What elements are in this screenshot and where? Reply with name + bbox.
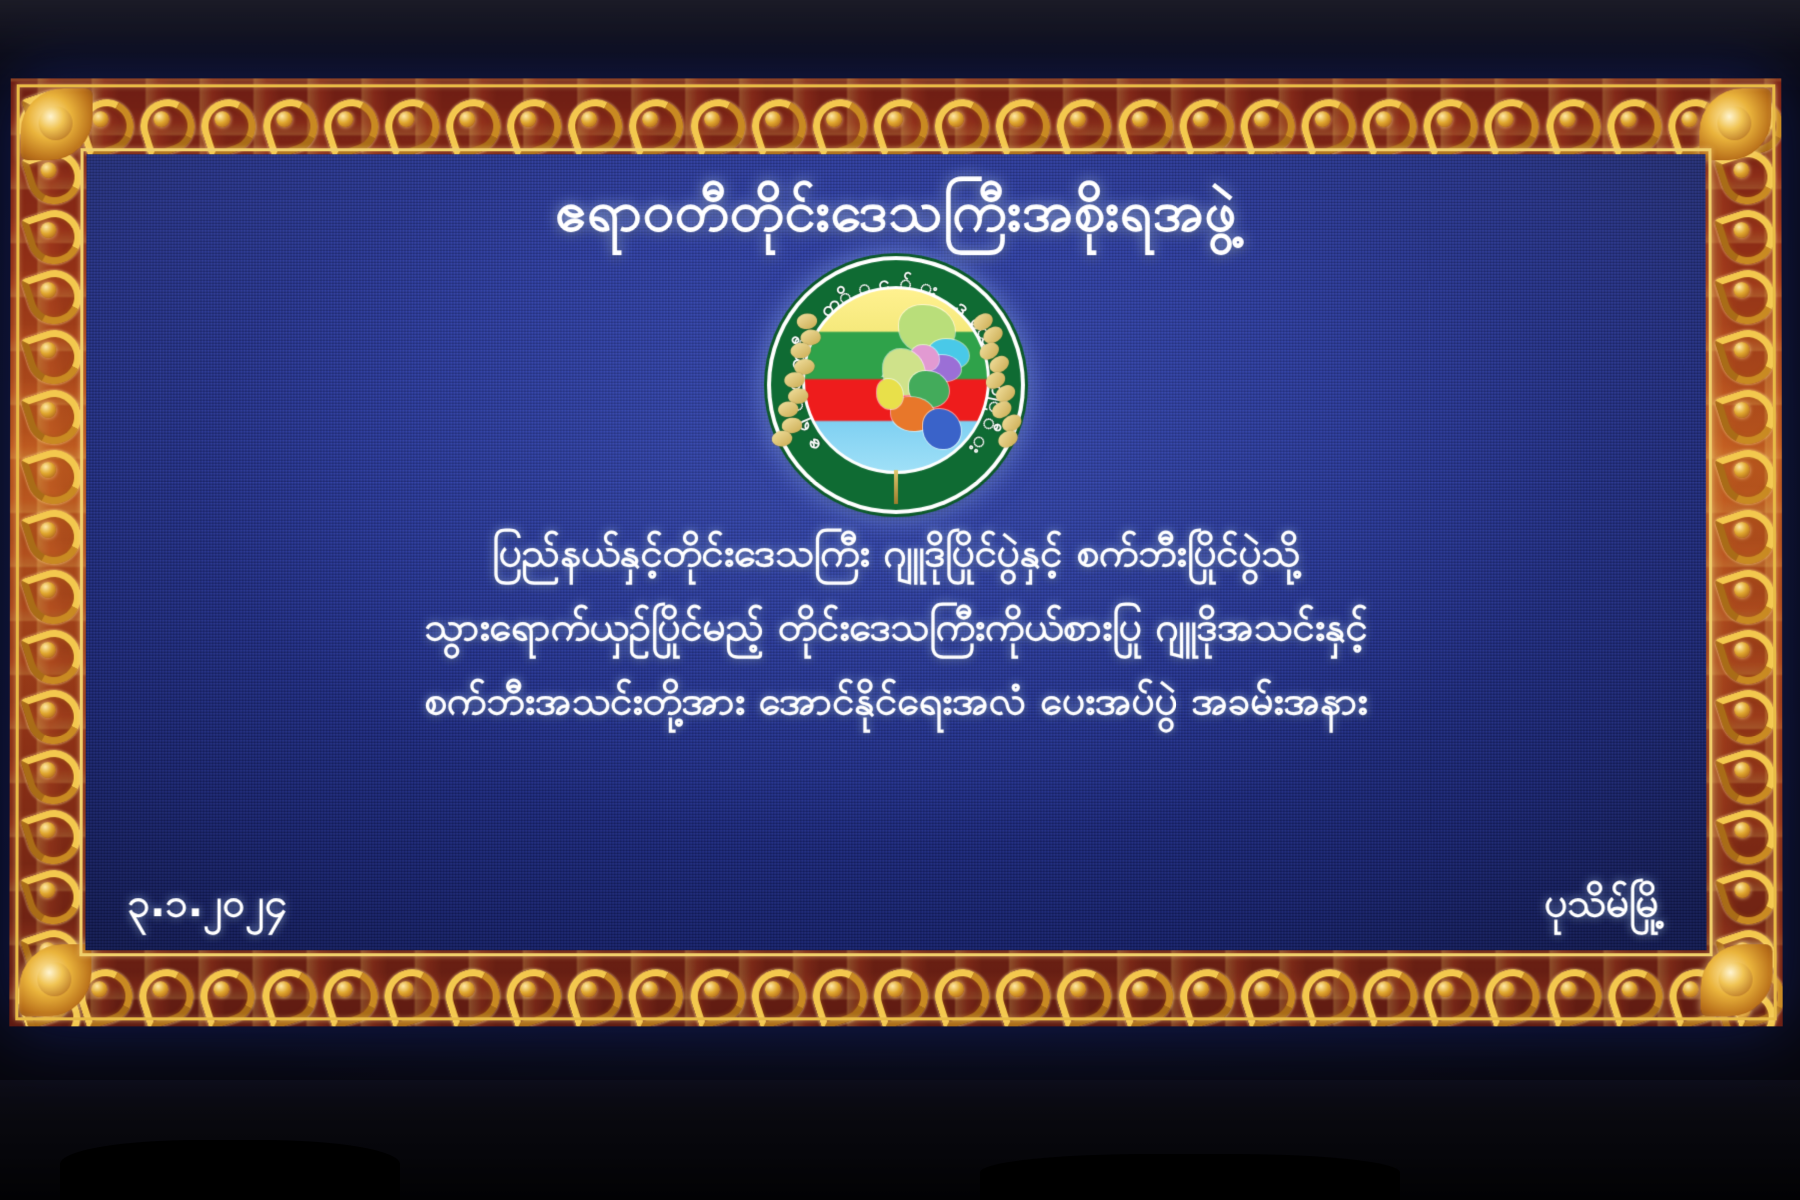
seal-outer-ring: ဧရာဝတီ တိုင်း ဒေသ ကြီး [771,260,1021,510]
seal-inner-disc [802,286,990,474]
banner-content: ဧရာဝတီတိုင်းဒေသကြီးအစိုးရအဖွဲ့ ဧရာဝတီ တိ… [85,154,1706,950]
banner-body-line: ပြည်နယ်နှင့်တိုင်းဒေသကြီး ဂျူဒိုပြိုင်ပွ… [492,528,1300,578]
rice-grain-kernel [796,312,819,332]
banner-body-line: သွားရောက်ယှဉ်ပြိုင်မည့် တိုင်းဒေသကြီးကို… [424,602,1368,652]
event-location: ပုသိမ်မြို့ [1544,877,1664,936]
rice-grain-kernel [997,429,1020,449]
map-district-region [923,409,961,449]
banner-body-line: စက်ဘီးအသင်းတို့အား အောင်နိုင်ရေးအလံ ပေးအ… [424,676,1367,726]
map-district-region [877,379,903,409]
led-screen-surface: ဧရာဝတီတိုင်းဒေသကြီးအစိုးရအဖွဲ့ ဧရာဝတီ တိ… [85,154,1706,950]
led-display-panel: ဧရာဝတီတိုင်းဒေသကြီးအစိုးရအဖွဲ့ ဧရာဝတီ တိ… [9,78,1782,1026]
banner-footer: ၃.၁.၂၀၂၄ ပုသိမ်မြို့ [85,877,1706,936]
foreground-silhouette [980,1154,1400,1200]
foreground-silhouette [60,1140,400,1200]
region-government-seal: ဧရာဝတီ တိုင်း ဒေသ ကြီး [771,260,1021,510]
banner-body-text: ပြည်နယ်နှင့်တိုင်းဒေသကြီး ဂျူဒိုပြိုင်ပွ… [424,528,1368,726]
ceiling-shadow [0,0,1800,90]
ayeyarwady-region-map [865,305,973,461]
screenshot-stage: ဧရာဝတီတိုင်းဒေသကြီးအစိုးရအဖွဲ့ ဧရာဝတီ တိ… [0,0,1800,1200]
event-date: ၃.၁.၂၀၂၄ [128,877,288,936]
seal-stem [894,470,898,504]
banner-title: ဧရာဝတီတိုင်းဒေသကြီးအစိုးရအဖွဲ့ [555,178,1237,246]
